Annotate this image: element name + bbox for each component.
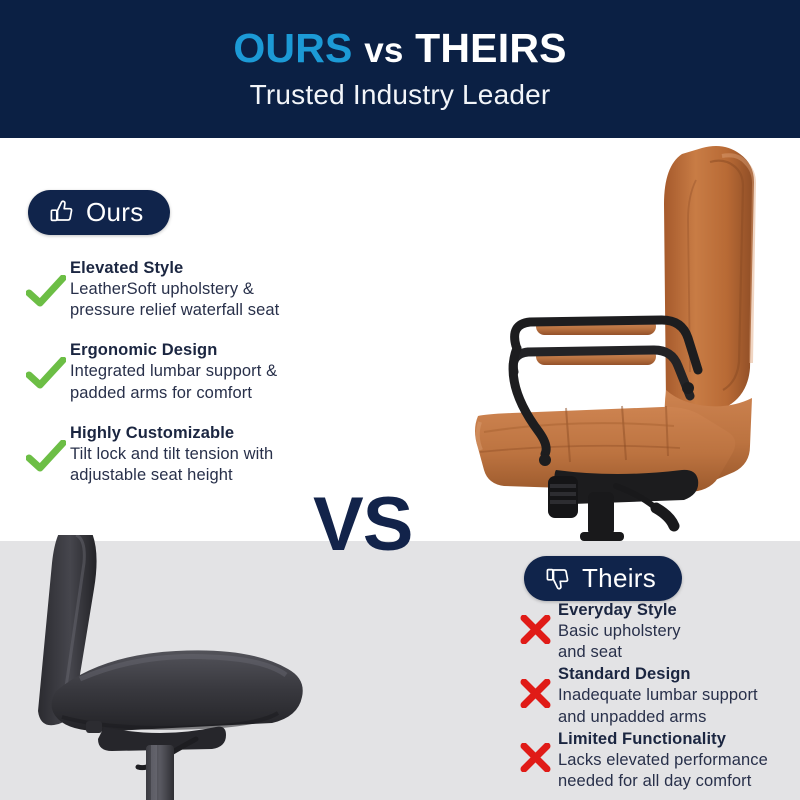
ours-feature-desc-2: padded arms for comfort xyxy=(70,383,277,404)
theirs-feature-desc: Lacks elevated performance xyxy=(558,750,768,771)
theirs-feature-list: Everyday Style Basic upholstery and seat… xyxy=(512,600,800,793)
theirs-feature-desc-2: and unpadded arms xyxy=(558,707,758,728)
theirs-feature-desc: Basic upholstery xyxy=(558,621,681,642)
versus-label: VS xyxy=(313,487,412,563)
theirs-feature-desc-2: needed for all day comfort xyxy=(558,771,768,792)
theirs-badge-label: Theirs xyxy=(582,565,656,591)
page-title: OURS vs THEIRS xyxy=(233,27,566,70)
ours-product-image xyxy=(470,140,800,542)
check-icon xyxy=(22,270,70,314)
x-icon xyxy=(512,739,558,777)
ours-feature-desc-2: pressure relief waterfall seat xyxy=(70,300,279,321)
theirs-feature-desc-2: and seat xyxy=(558,642,681,663)
title-ours-word: OURS xyxy=(233,25,352,71)
theirs-feature-desc: Inadequate lumbar support xyxy=(558,685,758,706)
title-theirs-word: THEIRS xyxy=(415,25,567,71)
ours-feature-list: Elevated Style LeatherSoft upholstery & … xyxy=(22,258,352,486)
theirs-feature-item: Standard Design Inadequate lumbar suppor… xyxy=(512,664,800,727)
thumbs-up-icon xyxy=(48,198,76,226)
thumbs-down-icon xyxy=(544,564,572,592)
header-banner: OURS vs THEIRS Trusted Industry Leader xyxy=(0,0,800,138)
ours-feature-desc: Tilt lock and tilt tension with xyxy=(70,444,273,465)
theirs-feature-title: Standard Design xyxy=(558,664,758,685)
x-icon xyxy=(512,610,558,648)
ours-feature-desc: Integrated lumbar support & xyxy=(70,361,277,382)
theirs-feature-title: Limited Functionality xyxy=(558,729,768,750)
ours-badge[interactable]: Ours xyxy=(28,190,170,235)
ours-feature-title: Highly Customizable xyxy=(70,423,273,444)
theirs-product-image xyxy=(0,535,330,800)
ours-feature-title: Elevated Style xyxy=(70,258,279,279)
page-subtitle: Trusted Industry Leader xyxy=(250,79,551,111)
theirs-feature-item: Limited Functionality Lacks elevated per… xyxy=(512,729,800,792)
ours-feature-desc-2: adjustable seat height xyxy=(70,465,273,486)
ours-badge-label: Ours xyxy=(86,199,144,225)
theirs-feature-item: Everyday Style Basic upholstery and seat xyxy=(512,600,800,663)
ours-feature-item: Elevated Style LeatherSoft upholstery & … xyxy=(22,258,352,321)
check-icon xyxy=(22,352,70,396)
title-vs-word: vs xyxy=(364,31,403,70)
x-icon xyxy=(512,674,558,712)
comparison-infographic: OURS vs THEIRS Trusted Industry Leader xyxy=(0,0,800,800)
ours-feature-item: Highly Customizable Tilt lock and tilt t… xyxy=(22,423,352,486)
check-icon xyxy=(22,435,70,479)
ours-feature-title: Ergonomic Design xyxy=(70,340,277,361)
ours-feature-item: Ergonomic Design Integrated lumbar suppo… xyxy=(22,340,352,403)
theirs-badge[interactable]: Theirs xyxy=(524,556,682,601)
theirs-feature-title: Everyday Style xyxy=(558,600,681,621)
ours-feature-desc: LeatherSoft upholstery & xyxy=(70,279,279,300)
